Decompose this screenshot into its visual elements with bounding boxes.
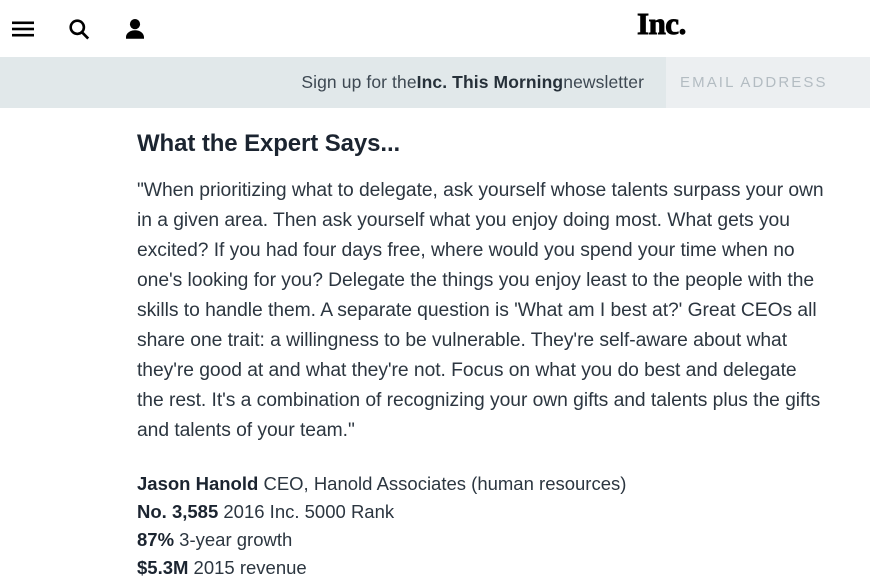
expert-credits: Jason Hanold CEO, Hanold Associates (hum… [137,470,825,582]
credit-line: 87% 3-year growth [137,526,825,554]
credit-detail: 2015 revenue [188,557,306,578]
hamburger-menu-icon[interactable] [6,12,40,46]
credit-lead: $5.3M [137,557,188,578]
credit-detail: 3-year growth [174,529,292,550]
credit-detail: 2016 Inc. 5000 Rank [218,501,394,522]
credit-line: No. 3,585 2016 Inc. 5000 Rank [137,498,825,526]
newsletter-prompt-prefix: Sign up for the [301,72,416,93]
search-glyph [68,18,90,40]
hamburger-menu-glyph [12,21,34,37]
credit-detail: CEO, Hanold Associates (human resources) [258,473,626,494]
search-icon[interactable] [62,12,96,46]
article-content: What the Expert Says... "When prioritizi… [0,108,870,582]
email-address-input[interactable] [666,57,870,108]
header-icon-group [0,12,152,46]
credit-lead: 87% [137,529,174,550]
site-header: Inc. [0,0,870,57]
newsletter-prompt: Sign up for the Inc. This Morning newsle… [0,57,666,108]
newsletter-prompt-suffix: newsletter [563,72,644,93]
user-account-glyph [125,18,145,40]
brand-logo[interactable]: Inc. [637,8,686,39]
expert-quote-text: "When prioritizing what to delegate, ask… [137,176,827,446]
credit-lead: No. 3,585 [137,501,218,522]
page-title: What the Expert Says... [137,130,825,159]
user-account-icon[interactable] [118,12,152,46]
newsletter-name: Inc. This Morning [417,72,564,93]
newsletter-signup-bar: Sign up for the Inc. This Morning newsle… [0,57,870,108]
credit-lead: Jason Hanold [137,473,258,494]
credit-line: Jason Hanold CEO, Hanold Associates (hum… [137,470,825,498]
